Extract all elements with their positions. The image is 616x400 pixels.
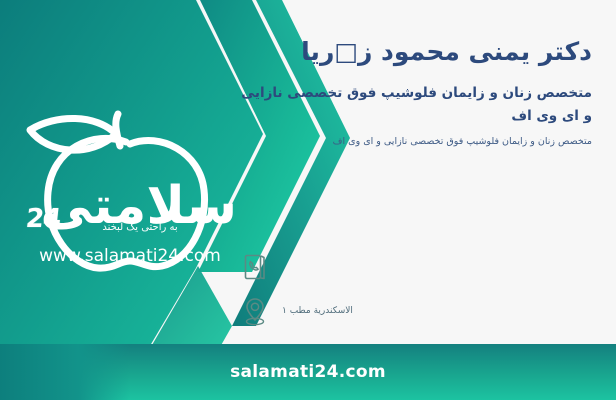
phone-book-icon — [238, 248, 272, 286]
footer-website[interactable]: salamati24.com — [230, 362, 386, 382]
footer-gradient-overlay — [0, 344, 130, 400]
logo-url: www.salamati24.com — [22, 246, 238, 266]
logo-tagline: به راحتی یک لبخند — [42, 222, 238, 233]
contact-address-text: الاسکندریة مطب ١ — [282, 305, 353, 318]
doctor-specialty-alt: متخصص زنان و زایمان فلوشیپ فوق تخصصی ناز… — [240, 133, 592, 150]
doctor-name: دکتر یمنی محمود ز□ریا — [240, 34, 592, 70]
doctor-info-block: دکتر یمنی محمود ز□ریا متخصص زنان و زایما… — [240, 34, 592, 150]
contact-row-address[interactable]: الاسکندریة مطب ١ — [238, 292, 598, 330]
salamati24-logo: سلامتی 24 به راحتی یک لبخند www.salamati… — [8, 108, 240, 276]
contact-row-phone[interactable] — [238, 248, 598, 286]
doctor-specialty: متخصص زنان و زایمان فلوشیپ فوق تخصصی ناز… — [240, 82, 592, 127]
contact-block: الاسکندریة مطب ١ — [238, 248, 598, 336]
business-card: سلامتی 24 به راحتی یک لبخند www.salamati… — [0, 0, 616, 400]
location-pin-icon — [238, 292, 272, 330]
footer-bar: salamati24.com — [0, 344, 616, 400]
